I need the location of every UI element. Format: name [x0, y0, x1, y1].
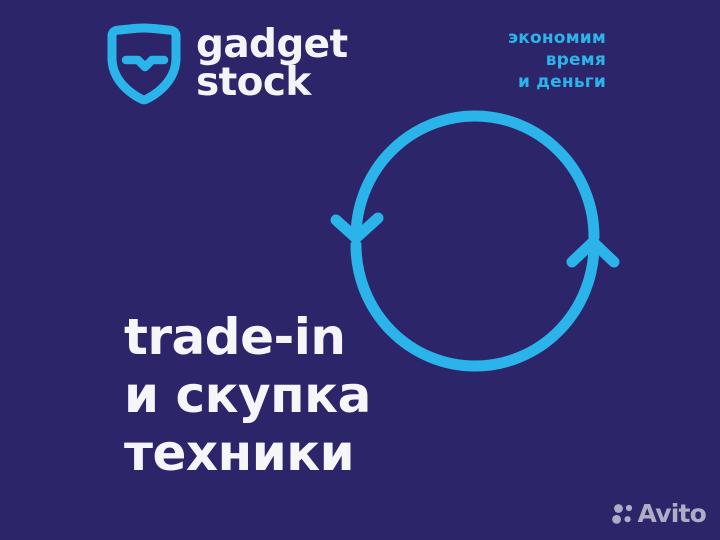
tagline-line-3: и деньги — [508, 72, 606, 94]
tagline-line-2: время — [508, 50, 606, 72]
headline-line-2: и скупка — [124, 370, 371, 420]
brand-wordmark: gadget stock — [196, 26, 348, 102]
avito-label: Avito — [638, 499, 706, 528]
tagline: экономим время и деньги — [508, 28, 606, 93]
page-title: trade-in и скупка техники — [124, 312, 371, 478]
headline-line-1: trade-in — [124, 312, 371, 362]
promo-banner: gadget stock экономим время и деньги tra… — [0, 0, 720, 540]
shield-logo-icon — [106, 22, 182, 106]
wordmark-line-stock: stock — [196, 64, 348, 102]
wordmark-line-gadget: gadget — [196, 26, 348, 64]
brand-lockup: gadget stock — [106, 22, 348, 106]
avito-watermark: Avito — [612, 499, 706, 528]
headline-line-3: техники — [124, 428, 371, 478]
avito-dots-icon — [612, 503, 634, 525]
tagline-line-1: экономим — [508, 28, 606, 50]
circular-arrows-icon — [330, 96, 620, 381]
